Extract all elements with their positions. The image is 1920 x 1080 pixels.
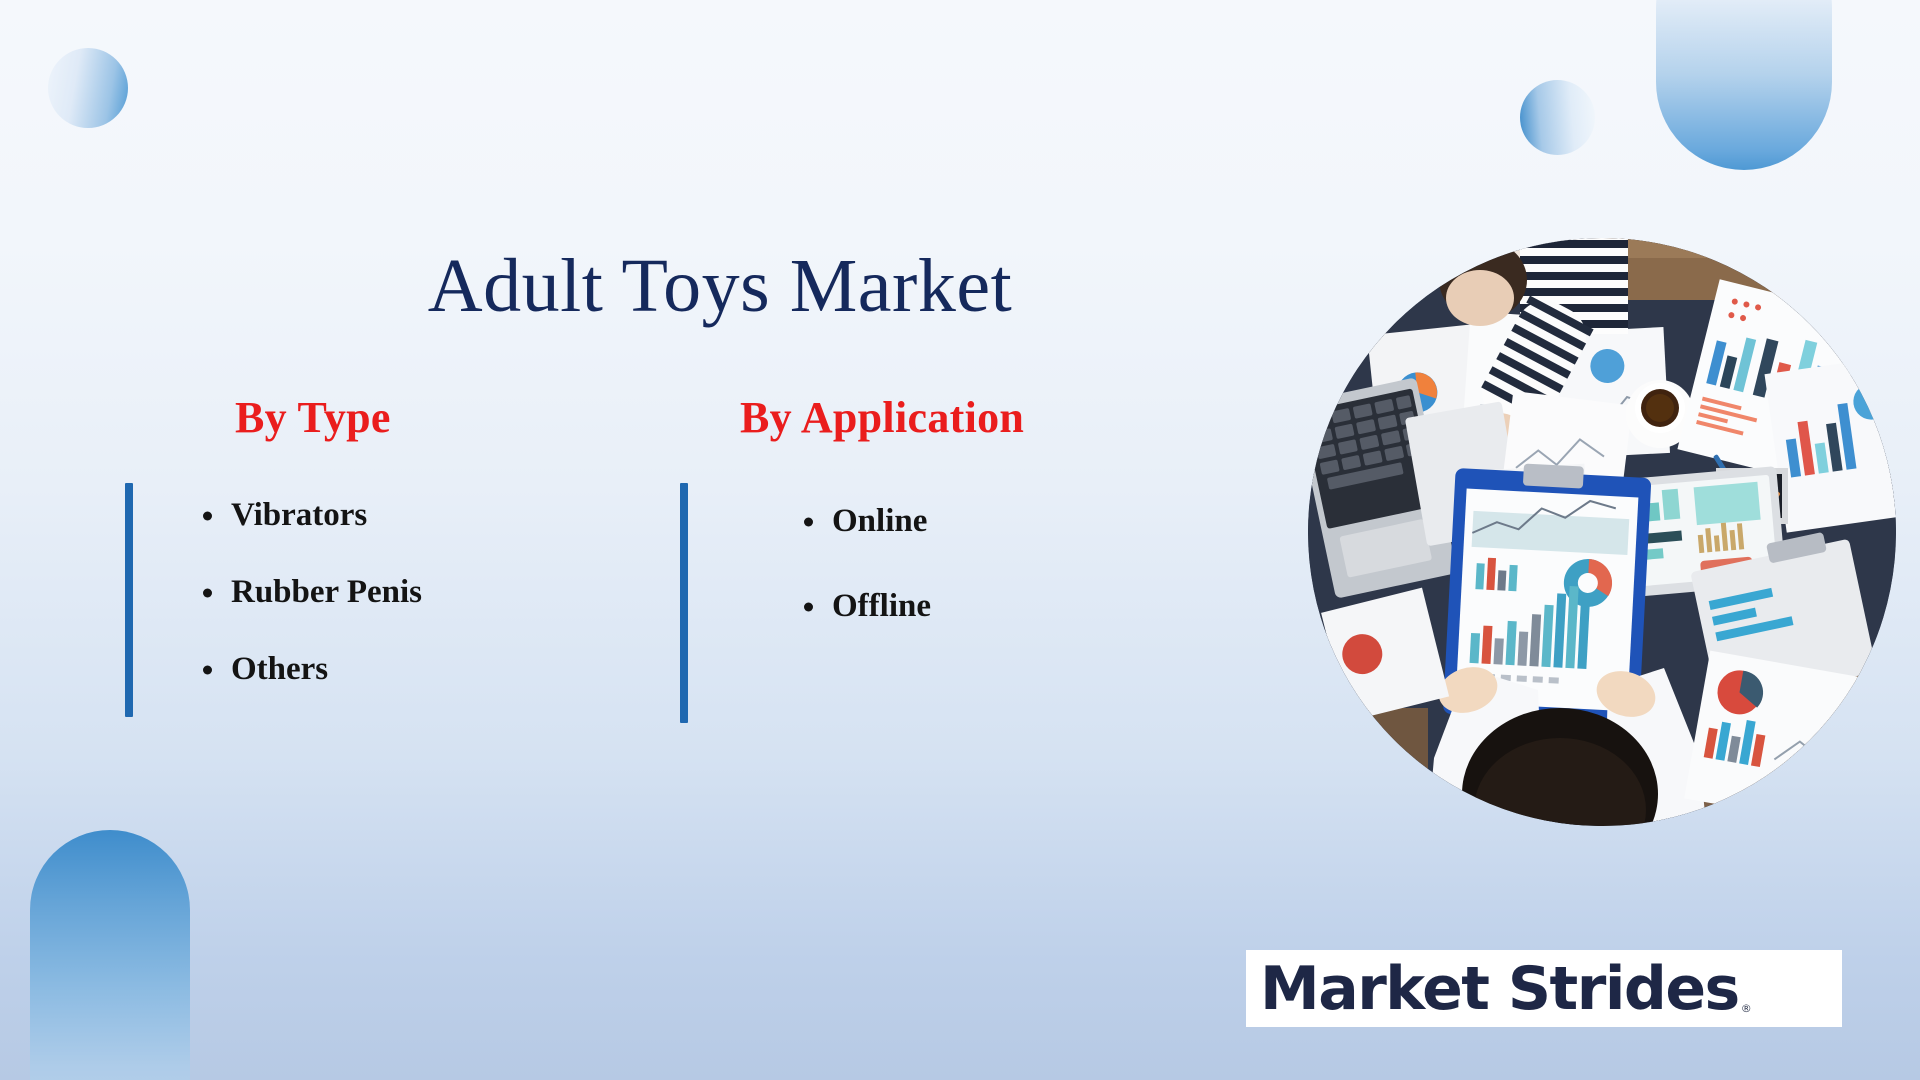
list-item: Vibrators: [195, 499, 645, 532]
decorative-circle-top-right: [1520, 80, 1595, 155]
list-item: Offline: [796, 590, 1200, 623]
page-title: Adult Toys Market: [0, 247, 1440, 327]
decorative-arch-bottom-left: [30, 830, 190, 1080]
list-item: Others: [195, 653, 645, 686]
bullet-dot-icon: [804, 602, 813, 611]
segment-heading-by-type: By Type: [125, 392, 645, 443]
list-item: Online: [796, 505, 1200, 538]
segment-by-type: By Type Vibrators Rubber Penis Others: [125, 392, 645, 730]
list-item-label: Rubber Penis: [231, 574, 422, 610]
list-item-label: Others: [231, 651, 328, 687]
list-item-label: Vibrators: [231, 497, 367, 533]
business-meeting-photo: [1308, 238, 1896, 826]
decorative-pill-top-right: [1656, 0, 1832, 170]
segment-by-application: By Application Online Offline: [680, 392, 1200, 675]
segment-body-by-application: Online Offline: [680, 483, 1200, 623]
bullet-dot-icon: [804, 517, 813, 526]
bullet-dot-icon: [203, 588, 212, 597]
slide-canvas: Adult Toys Market By Type Vibrators Rubb…: [0, 0, 1920, 1080]
segment-list-by-application: Online Offline: [728, 483, 1200, 623]
segment-body-by-type: Vibrators Rubber Penis Others: [125, 483, 645, 686]
segment-list-by-type: Vibrators Rubber Penis Others: [173, 483, 645, 686]
registered-trademark-icon: ®: [1739, 1002, 1752, 1027]
accent-bar-by-application: [680, 483, 688, 723]
list-item-label: Online: [832, 503, 927, 539]
photo-illustration: [1308, 238, 1896, 826]
decorative-circle-top-left: [48, 48, 128, 128]
segment-heading-by-application: By Application: [680, 392, 1200, 443]
list-item-label: Offline: [832, 588, 931, 624]
bullet-dot-icon: [203, 665, 212, 674]
list-item: Rubber Penis: [195, 576, 645, 609]
accent-bar-by-type: [125, 483, 133, 717]
brand-logo-text: Market Strides: [1260, 959, 1739, 1019]
bullet-dot-icon: [203, 511, 212, 520]
brand-logo: Market Strides ®: [1246, 950, 1842, 1027]
